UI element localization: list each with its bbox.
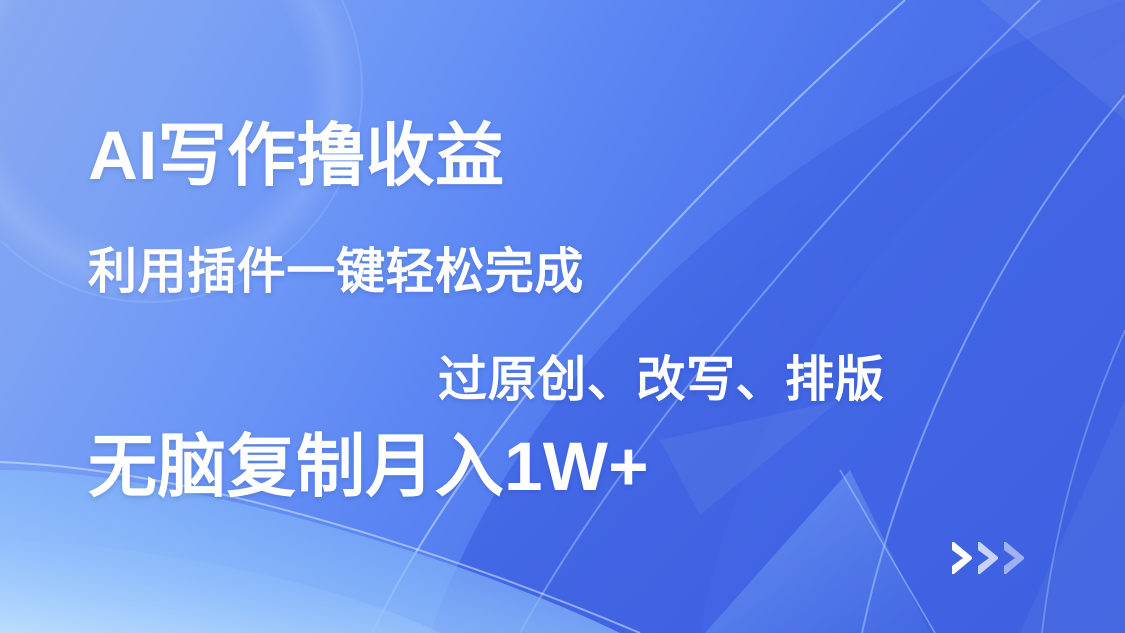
chevron-right-icon-path (978, 542, 998, 574)
headline-line-3: 过原创、改写、排版 (438, 355, 884, 407)
headline-stack: AI写作撸收益 利用插件一键轻松完成 过原创、改写、排版 无脑复制月入1W+ (0, 0, 1125, 633)
headline-line-2: 利用插件一键轻松完成 (88, 247, 584, 299)
headline-line-1: AI写作撸收益 (88, 119, 504, 192)
promo-banner: AI写作撸收益 利用插件一键轻松完成 过原创、改写、排版 无脑复制月入1W+ (0, 0, 1125, 633)
headline-line-4: 无脑复制月入1W+ (88, 430, 649, 503)
chevron-right-icon (1000, 540, 1034, 576)
chevron-right-icon-path (1004, 542, 1024, 574)
chevron-arrow-group (948, 540, 1048, 578)
chevron-right-icon-path (952, 542, 972, 574)
